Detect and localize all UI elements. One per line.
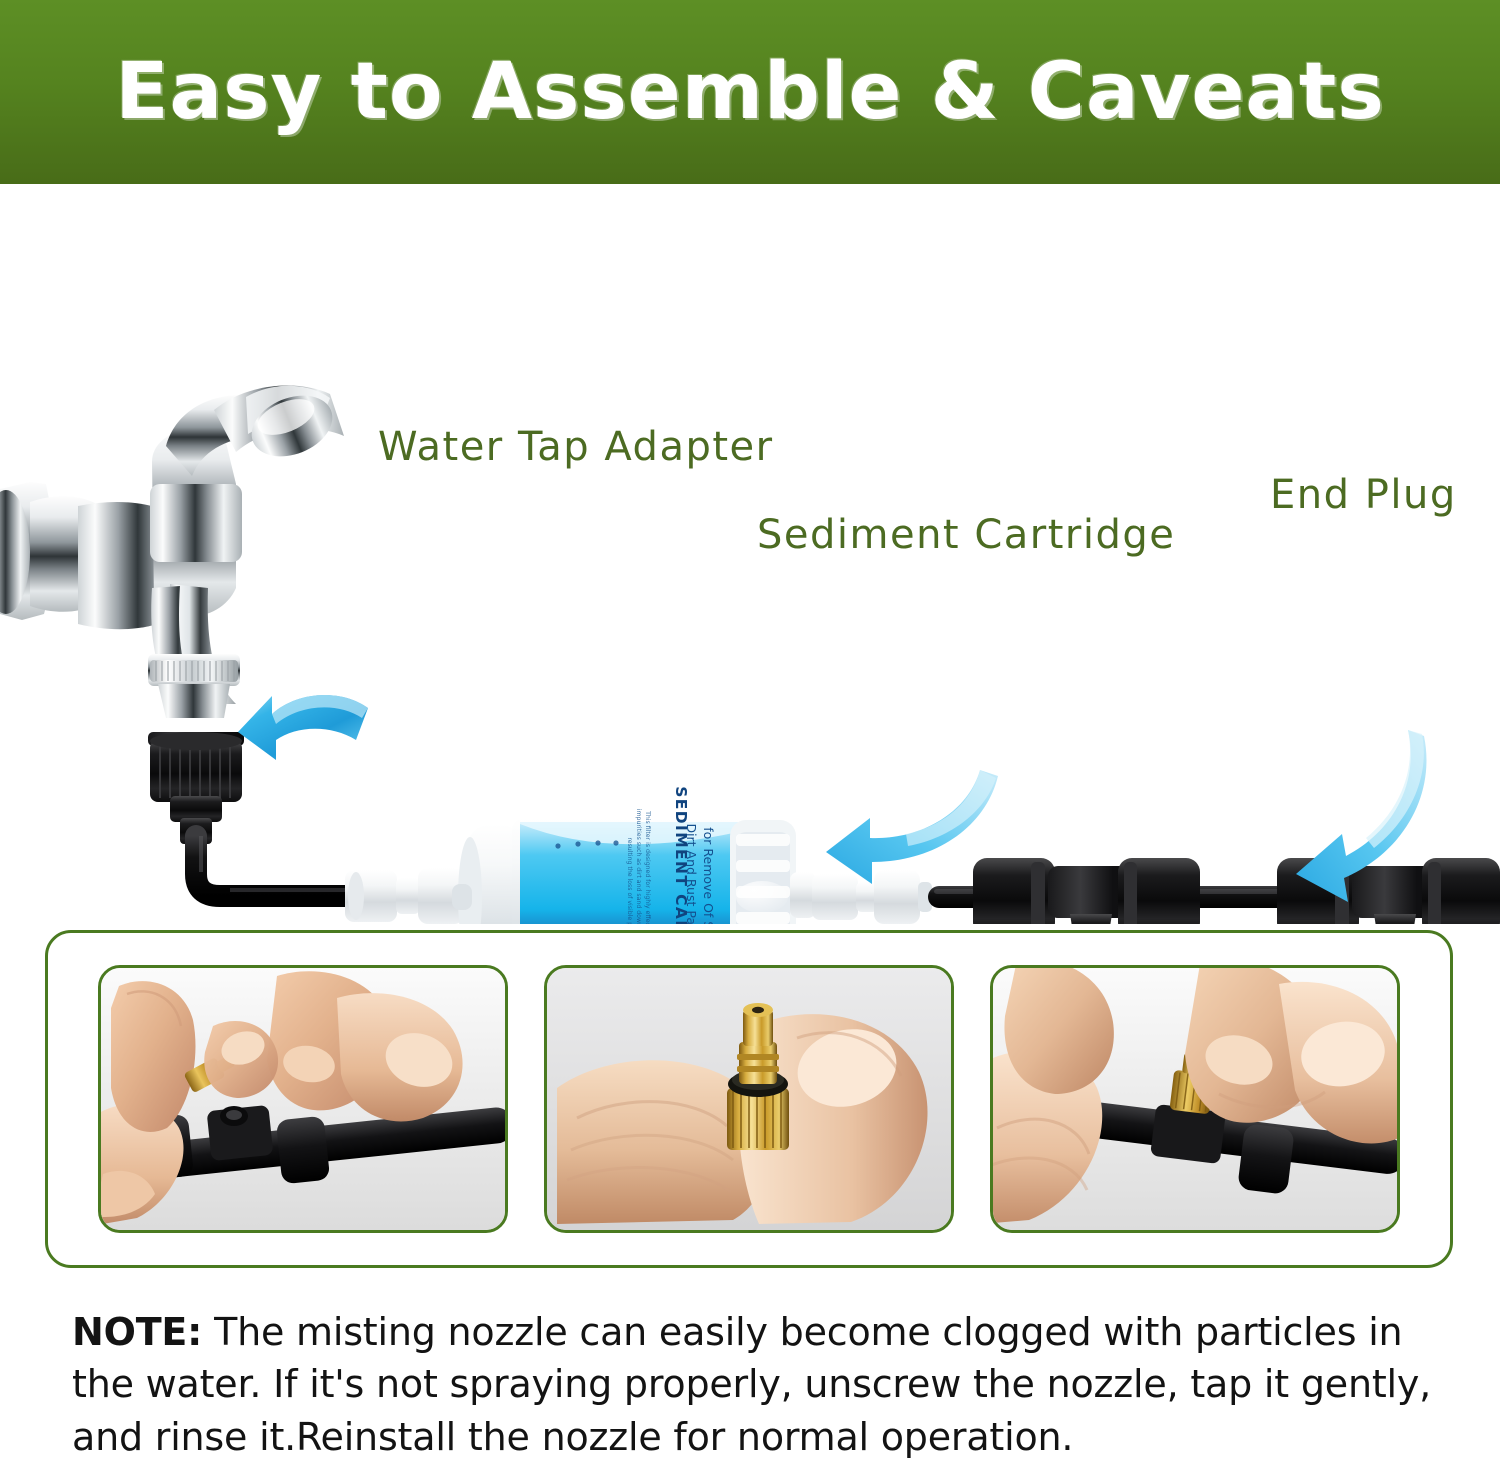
- panel-tighten-nozzle-image: [993, 968, 1397, 1230]
- callout-end-plug: End Plug: [1270, 472, 1457, 518]
- panel-insert-nozzle: [98, 965, 508, 1233]
- note-prefix: NOTE:: [72, 1310, 202, 1354]
- note-body: The misting nozzle can easily become clo…: [72, 1310, 1431, 1459]
- header-banner: Easy to Assemble & Caveats: [0, 0, 1500, 184]
- panel-nozzle-closeup: [544, 965, 954, 1233]
- cartridge-subtitle-1: for Remove Of Sand: [701, 827, 716, 924]
- cartridge-fineprint-3: resulting the loss of visible particles.: [626, 837, 633, 924]
- cartridge-fineprint-1: This filter is designed for highly effec…: [644, 810, 651, 924]
- panel-nozzle-closeup-image: [547, 968, 951, 1230]
- assembly-diagram-svg: SEDIMENT CARTRIDGE for Remove Of Sand Di…: [0, 184, 1500, 924]
- arrow-to-sediment-cartridge-icon: [826, 770, 998, 884]
- note-text: NOTE: The misting nozzle can easily beco…: [72, 1306, 1450, 1463]
- callout-sediment-cartridge: Sediment Cartridge: [757, 512, 1175, 558]
- tee-nozzle-assembly-1: [973, 858, 1200, 924]
- arrow-to-tap-adapter-icon: [238, 695, 368, 760]
- sediment-cartridge: SEDIMENT CARTRIDGE for Remove Of Sand Di…: [452, 786, 816, 924]
- chrome-faucet: [0, 384, 344, 718]
- black-hose: [196, 836, 360, 896]
- instruction-photos-frame: [45, 930, 1453, 1268]
- panel-insert-nozzle-image: [101, 968, 505, 1230]
- panel-tighten-nozzle: [990, 965, 1400, 1233]
- cartridge-fineprint-2: impurities such as dirt and sand down to…: [635, 809, 642, 924]
- page-title: Easy to Assemble & Caveats: [115, 53, 1385, 131]
- assembly-diagram: SEDIMENT CARTRIDGE for Remove Of Sand Di…: [0, 184, 1500, 924]
- cartridge-subtitle-2: Dirt And Rust Particle: [684, 823, 699, 924]
- callout-water-tap-adapter: Water Tap Adapter: [378, 424, 774, 470]
